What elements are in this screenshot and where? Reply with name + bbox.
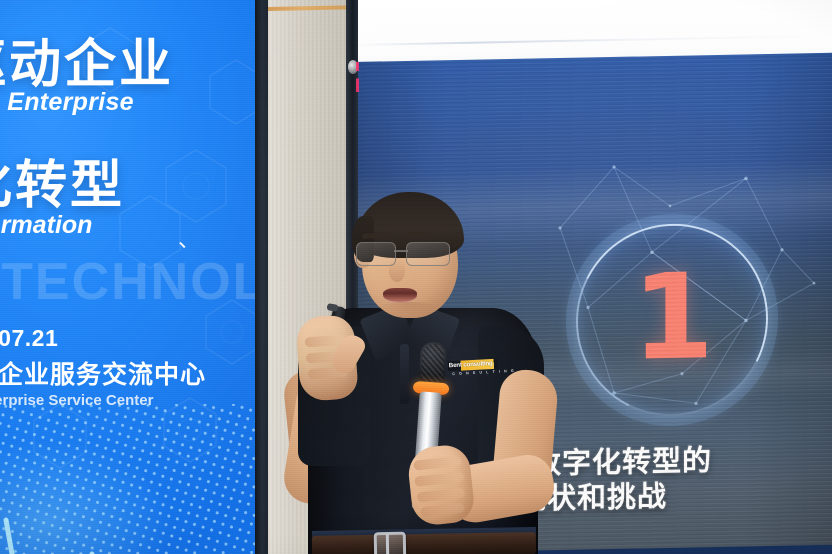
banner-headline-zh-2: 化转型 [0, 143, 125, 218]
speaker-right-hand [406, 443, 476, 527]
banner-bottom-glow [0, 384, 257, 554]
finger [420, 503, 465, 518]
speaker-glasses [354, 242, 458, 266]
frame-indicator-marks [356, 62, 359, 92]
speaker-nose [389, 260, 405, 282]
microphone-head [418, 341, 447, 385]
banner-venue-en: Enterprise Service Center [0, 392, 153, 409]
shirt-logo: Bent consulting C O N S U L T I N G [448, 359, 499, 378]
belt-buckle-pin [386, 534, 389, 554]
presentation-photo-scene: 1 企业数字化转型的 现状和挑战 [0, 0, 832, 554]
speaker-mouth [383, 288, 417, 303]
glasses-bridge [394, 250, 408, 252]
banner-headline-en-1: ven Enterprise [0, 88, 134, 117]
event-banner: E TECHNOLOGY 驱动企业 ven Enterprise 化转型 nsf… [0, 0, 257, 554]
glasses-lens-right [406, 242, 450, 266]
speaker-shirt-placket [400, 344, 409, 404]
speaker: Bent consulting C O N S U L T I N G [250, 120, 630, 554]
speaker-chin-shadow [372, 302, 444, 320]
banner-separator-mark: 、 [178, 222, 200, 254]
banner-watermark: E TECHNOLOGY [0, 252, 257, 312]
banner-date: 3.07.21 [0, 325, 58, 352]
finger [413, 456, 462, 471]
finger [417, 488, 466, 503]
banner-headline-zh-1: 驱动企业 [0, 22, 174, 97]
banner-headline-en-2: nsformation [0, 211, 92, 240]
finger [414, 472, 465, 487]
speaker-belt [312, 532, 536, 554]
presentation-clicker-tip [326, 303, 338, 312]
belt-buckle [374, 532, 407, 554]
banner-venue-zh: 化企业服务交流中心 [0, 355, 206, 391]
